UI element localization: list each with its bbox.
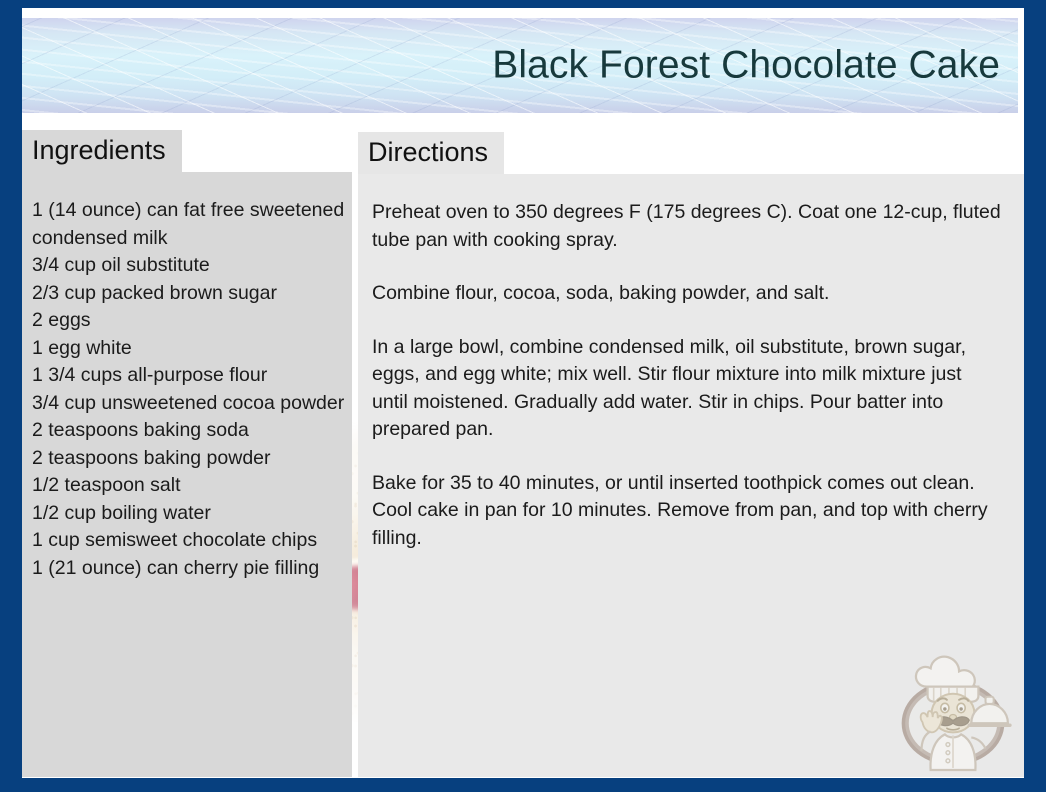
list-item: 1 (21 ounce) can cherry pie filling — [32, 555, 348, 583]
list-item: 2 teaspoons baking soda — [32, 417, 348, 445]
list-item: 3/4 cup unsweetened cocoa powder — [32, 390, 348, 418]
directions-panel: Preheat oven to 350 degrees F (175 degre… — [358, 174, 1024, 777]
direction-step: Preheat oven to 350 degrees F (175 degre… — [372, 199, 1002, 254]
list-item: 1/2 cup boiling water — [32, 500, 348, 528]
direction-step: Bake for 35 to 40 minutes, or until inse… — [372, 470, 1002, 553]
page-title: Black Forest Chocolate Cake — [492, 44, 1000, 87]
direction-step: In a large bowl, combine condensed milk,… — [372, 334, 1002, 444]
ingredients-heading: Ingredients — [22, 130, 182, 172]
list-item: 1 cup semisweet chocolate chips — [32, 527, 348, 555]
ingredients-panel: 1 (14 ounce) can fat free sweetened cond… — [22, 172, 352, 777]
list-item: 2 eggs — [32, 307, 348, 335]
recipe-page: Black Forest Chocolate Cake Ingredients … — [22, 8, 1024, 778]
directions-body: Preheat oven to 350 degrees F (175 degre… — [372, 199, 1002, 552]
direction-step: Combine flour, cocoa, soda, baking powde… — [372, 280, 1002, 308]
list-item: 2/3 cup packed brown sugar — [32, 280, 348, 308]
list-item: 1 egg white — [32, 335, 348, 363]
list-item: 1 3/4 cups all-purpose flour — [32, 362, 348, 390]
list-item: 1/2 teaspoon salt — [32, 472, 348, 500]
header-banner: Black Forest Chocolate Cake — [22, 18, 1018, 113]
list-item: 1 (14 ounce) can fat free sweetened cond… — [32, 197, 348, 252]
list-item: 3/4 cup oil substitute — [32, 252, 348, 280]
ingredients-list: 1 (14 ounce) can fat free sweetened cond… — [32, 197, 348, 582]
recipe-card: Black Forest Chocolate Cake Ingredients … — [0, 0, 1046, 792]
directions-heading: Directions — [358, 132, 504, 174]
list-item: 2 teaspoons baking powder — [32, 445, 348, 473]
